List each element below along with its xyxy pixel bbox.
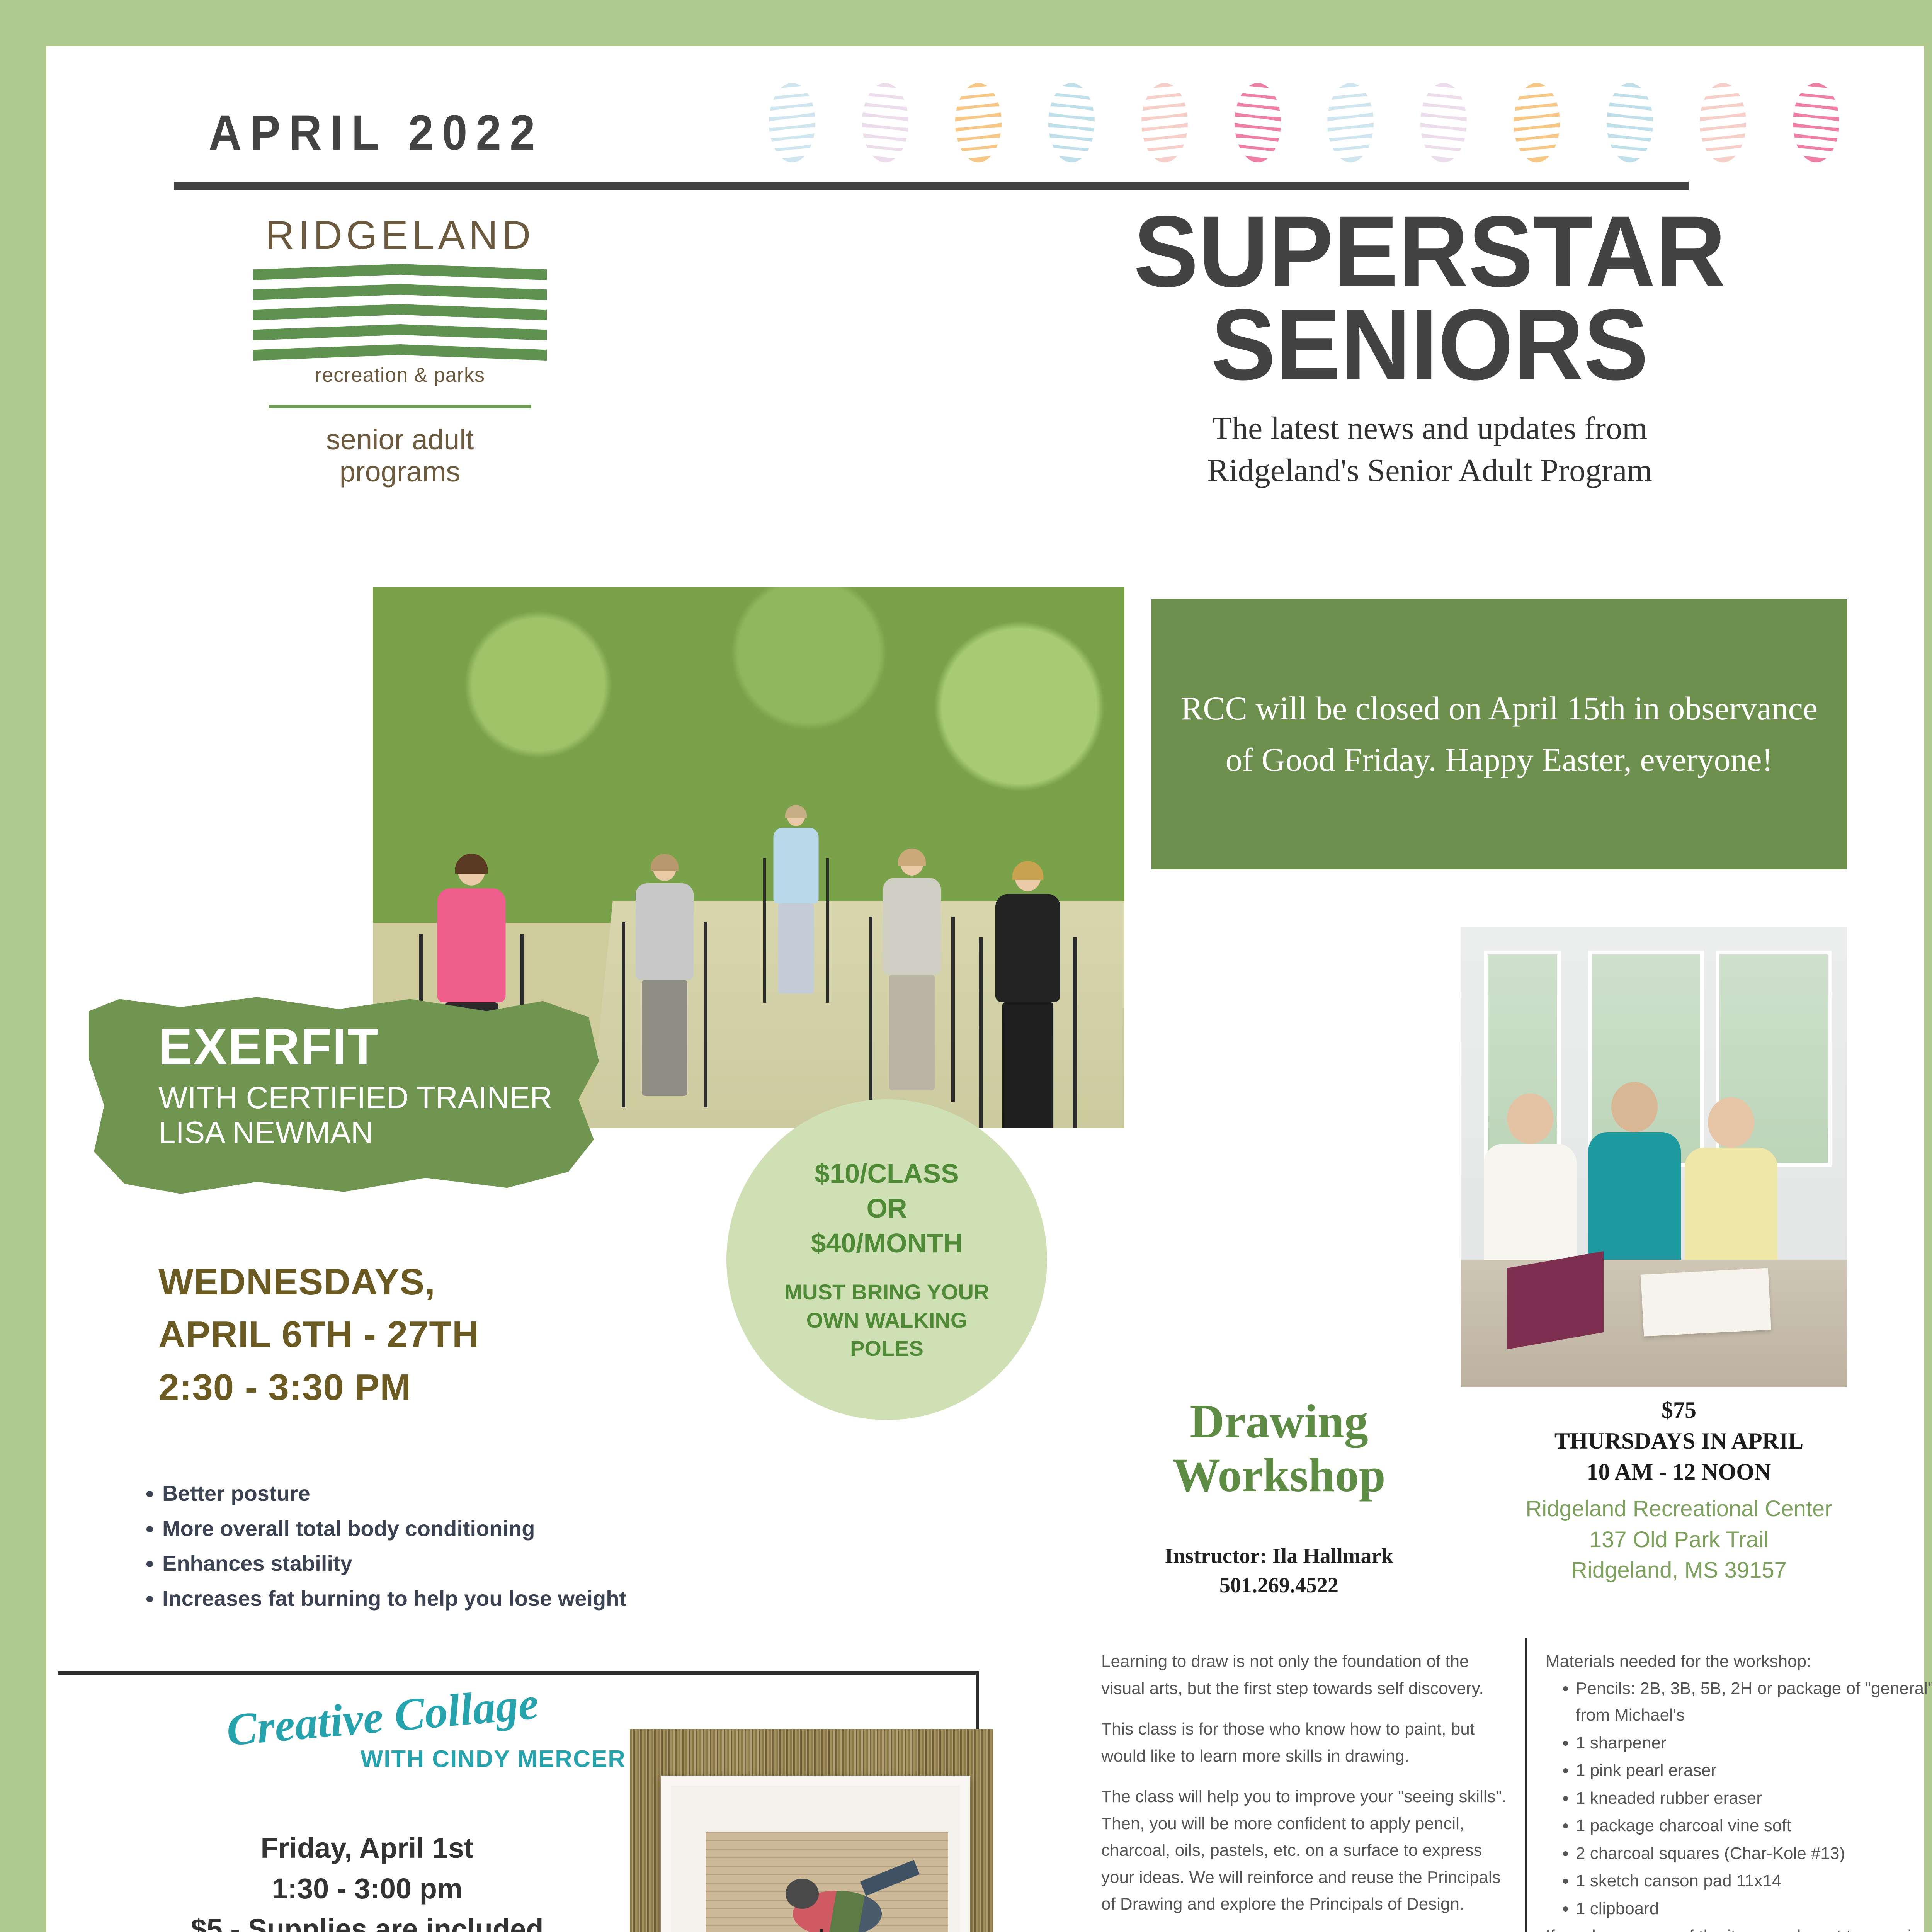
- newsletter-sheet: APRIL 2022 RIDGELAND recreation & parks …: [46, 46, 1924, 1932]
- closure-notice: RCC will be closed on April 15th in obse…: [1151, 599, 1847, 869]
- easter-egg-icon: [1514, 83, 1560, 162]
- exerfit-subtitle: WITH CERTIFIED TRAINER LISA NEWMAN: [158, 1080, 599, 1150]
- masthead-line-1: SUPERSTAR: [966, 205, 1893, 298]
- ridgeland-logo: RIDGELAND recreation & parks senior adul…: [240, 213, 560, 488]
- list-item: 1 sharpener: [1576, 1730, 1932, 1757]
- logo-program-name: senior adult programs: [240, 424, 560, 488]
- issue-month: APRIL 2022: [209, 104, 544, 161]
- logo-wordmark: RIDGELAND: [240, 213, 560, 259]
- easter-egg-icon: [1048, 83, 1095, 162]
- newsletter-header: APRIL 2022 RIDGELAND recreation & parks …: [46, 46, 1924, 495]
- drawing-workshop-details: $75 THURSDAYS IN APRIL 10 AM - 12 NOON R…: [1461, 1395, 1897, 1586]
- list-item: 1 pink pearl eraser: [1576, 1757, 1932, 1784]
- drawing-time: 10 AM - 12 NOON: [1461, 1457, 1897, 1488]
- closure-notice-text: RCC will be closed on April 15th in obse…: [1179, 683, 1820, 786]
- easter-egg-icon: [1420, 83, 1467, 162]
- masthead: SUPERSTAR SENIORS The latest news and up…: [947, 205, 1913, 492]
- header-divider-rule: [174, 182, 1689, 190]
- easter-egg-icon: [955, 83, 1002, 162]
- paragraph: Learning to draw is not only the foundat…: [1101, 1648, 1511, 1702]
- exerfit-price: $10/CLASS OR $40/MONTH: [811, 1156, 963, 1260]
- easter-egg-decoration: [769, 83, 1839, 166]
- page-background: APRIL 2022 RIDGELAND recreation & parks …: [0, 0, 1932, 1932]
- drawing-class-photo: [1461, 927, 1847, 1387]
- divider-vertical-right: [1525, 1638, 1527, 1932]
- easter-egg-icon: [1235, 83, 1281, 162]
- exerfit-title: EXERFIT: [158, 1017, 599, 1076]
- list-item: Increases fat burning to help you lose w…: [162, 1581, 954, 1616]
- logo-tagline: recreation & parks: [240, 364, 560, 387]
- divider-horizontal-upper: [58, 1671, 978, 1675]
- list-item: Enhances stability: [162, 1546, 954, 1581]
- exerfit-benefits-list: Better posture More overall total body c…: [135, 1476, 954, 1616]
- exerfit-price-badge: $10/CLASS OR $40/MONTH MUST BRING YOUR O…: [726, 1099, 1047, 1420]
- drawing-workshop-title: Drawing Workshop: [1082, 1395, 1476, 1502]
- materials-heading: Materials needed for the workshop:: [1546, 1648, 1932, 1675]
- masthead-line-2: SENIORS: [966, 298, 1893, 391]
- materials-list: Pencils: 2B, 3B, 5B, 2H or package of "g…: [1576, 1675, 1932, 1922]
- easter-egg-icon: [1141, 83, 1188, 162]
- collage-title-text: Creative Collage: [224, 1677, 541, 1757]
- drawing-price: $75: [1461, 1395, 1897, 1426]
- easter-egg-icon: [1793, 83, 1839, 162]
- list-item: 1 clipboard: [1576, 1895, 1932, 1922]
- list-item: 1 package charcoal vine soft: [1576, 1812, 1932, 1839]
- easter-egg-icon: [862, 83, 908, 162]
- easter-egg-icon: [769, 83, 815, 162]
- drawing-days: THURSDAYS IN APRIL: [1461, 1426, 1897, 1457]
- list-item: 1 sketch canson pad 11x14: [1576, 1867, 1932, 1895]
- drawing-location: Ridgeland Recreational Center 137 Old Pa…: [1461, 1493, 1897, 1585]
- logo-divider: [269, 405, 531, 408]
- paragraph: The class will help you to improve your …: [1101, 1783, 1511, 1918]
- easter-egg-icon: [1327, 83, 1374, 162]
- easter-egg-icon: [1607, 83, 1653, 162]
- collage-schedule: Friday, April 1st 1:30 - 3:00 pm $5 - Su…: [97, 1828, 638, 1932]
- masthead-subtitle: The latest news and updates from Ridgela…: [947, 407, 1913, 492]
- exerfit-banner: EXERFIT WITH CERTIFIED TRAINER LISA NEWM…: [89, 995, 599, 1196]
- collage-artwork-photo: [630, 1729, 993, 1932]
- easter-egg-icon: [1700, 83, 1746, 162]
- list-item: Pencils: 2B, 3B, 5B, 2H or package of "g…: [1576, 1675, 1932, 1729]
- collage-instructor: WITH CINDY MERCER: [135, 1745, 630, 1773]
- drawing-workshop-instructor: Instructor: Ila Hallmark 501.269.4522: [1082, 1542, 1476, 1600]
- exerfit-equipment-note: MUST BRING YOUR OWN WALKING POLES: [784, 1278, 990, 1362]
- drawing-workshop-description: Learning to draw is not only the foundat…: [1101, 1648, 1511, 1932]
- list-item: Better posture: [162, 1476, 954, 1511]
- drawing-workshop-materials: Materials needed for the workshop: Penci…: [1546, 1648, 1932, 1932]
- exerfit-schedule: WEDNESDAYS, APRIL 6TH - 27TH 2:30 - 3:30…: [158, 1256, 738, 1414]
- list-item: More overall total body conditioning: [162, 1511, 954, 1546]
- logo-wave-icon: [253, 264, 547, 361]
- list-item: 2 charcoal squares (Char-Kole #13): [1576, 1840, 1932, 1867]
- paragraph: This class is for those who know how to …: [1101, 1716, 1511, 1769]
- materials-note-1: If you have some of the items and want t…: [1546, 1923, 1932, 1932]
- list-item: 1 kneaded rubber eraser: [1576, 1785, 1932, 1812]
- collage-heading: Creative Collage WITH CINDY MERCER: [135, 1690, 630, 1773]
